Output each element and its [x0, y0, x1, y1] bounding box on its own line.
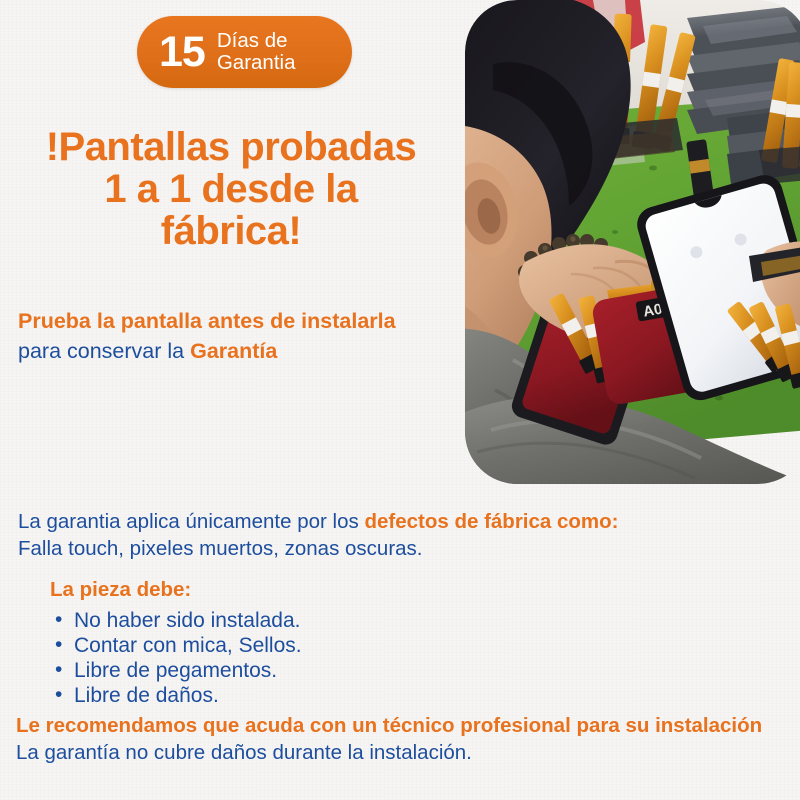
list-item: Contar con mica, Sellos.: [50, 633, 550, 658]
headline-line-1: !Pantallas probadas: [0, 126, 462, 168]
subheadline-warranty-word: Garantía: [190, 339, 277, 363]
technician-testing-screens-photo: A035: [465, 0, 800, 484]
warranty-scope-line-2: Falla touch, pixeles muertos, zonas oscu…: [18, 535, 788, 562]
warranty-scope-text: La garantia aplica únicamente por los de…: [18, 508, 788, 562]
subheadline-line-1: Prueba la pantalla antes de instalarla: [18, 306, 468, 336]
part-conditions-list: No haber sido instalada. Contar con mica…: [50, 608, 550, 708]
installation-note-disclaimer: La garantía no cubre daños durante la in…: [16, 741, 472, 764]
part-conditions-block: La pieza debe: No haber sido instalada. …: [50, 576, 550, 708]
badge-label-line-2: Garantia: [217, 51, 296, 74]
warranty-scope-highlight: defectos de fábrica como:: [364, 510, 618, 533]
list-item: Libre de daños.: [50, 683, 550, 708]
headline-line-3: fábrica!: [0, 210, 462, 252]
subheadline-line-2-prefix: para conservar la: [18, 339, 190, 363]
list-item: Libre de pegamentos.: [50, 658, 550, 683]
installation-note-recommendation: Le recomendamos que acuda con un técnico…: [16, 714, 655, 737]
subheadline-block: Prueba la pantalla antes de instalarla p…: [18, 306, 468, 366]
warranty-days-badge: 15 Días de Garantia: [137, 16, 352, 88]
installation-recommendation-note: Le recomendamos que acuda con un técnico…: [16, 712, 788, 766]
warranty-scope-prefix: La garantia aplica únicamente por los: [18, 510, 364, 533]
installation-note-keyword: instalación: [655, 714, 762, 737]
part-conditions-title: La pieza debe:: [50, 576, 550, 604]
badge-days-number: 15: [159, 31, 205, 74]
subheadline-line-2: para conservar la Garantía: [18, 336, 468, 366]
headline-line-2: 1 a 1 desde la: [0, 168, 462, 210]
list-item: No haber sido instalada.: [50, 608, 550, 633]
badge-days-label: Días de Garantia: [217, 30, 296, 74]
main-headline: !Pantallas probadas 1 a 1 desde la fábri…: [0, 126, 462, 252]
badge-label-line-1: Días de: [217, 29, 288, 52]
